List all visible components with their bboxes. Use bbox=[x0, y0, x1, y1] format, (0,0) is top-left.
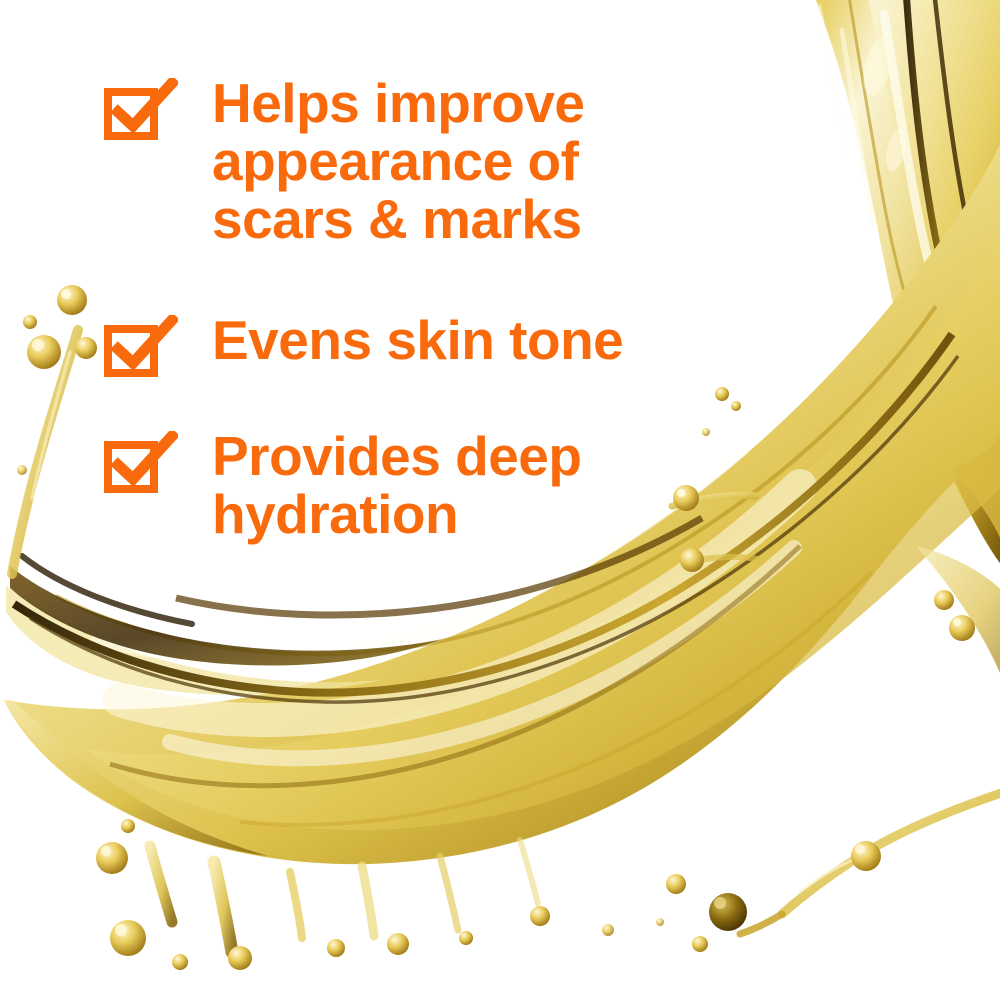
benefit-label: Evens skin tone bbox=[212, 311, 623, 369]
benefit-item-2: Evens skin tone bbox=[104, 311, 623, 377]
product-benefits-graphic: Helps improve appearance of scars & mark… bbox=[0, 0, 1000, 1000]
checkbox-checked-icon bbox=[104, 315, 178, 377]
benefit-item-1: Helps improve appearance of scars & mark… bbox=[104, 74, 585, 248]
benefit-item-3: Provides deep hydration bbox=[104, 427, 581, 543]
benefit-label: Provides deep hydration bbox=[212, 427, 581, 543]
checkbox-checked-icon bbox=[104, 431, 178, 493]
checkbox-checked-icon bbox=[104, 78, 178, 140]
benefit-label: Helps improve appearance of scars & mark… bbox=[212, 74, 585, 248]
